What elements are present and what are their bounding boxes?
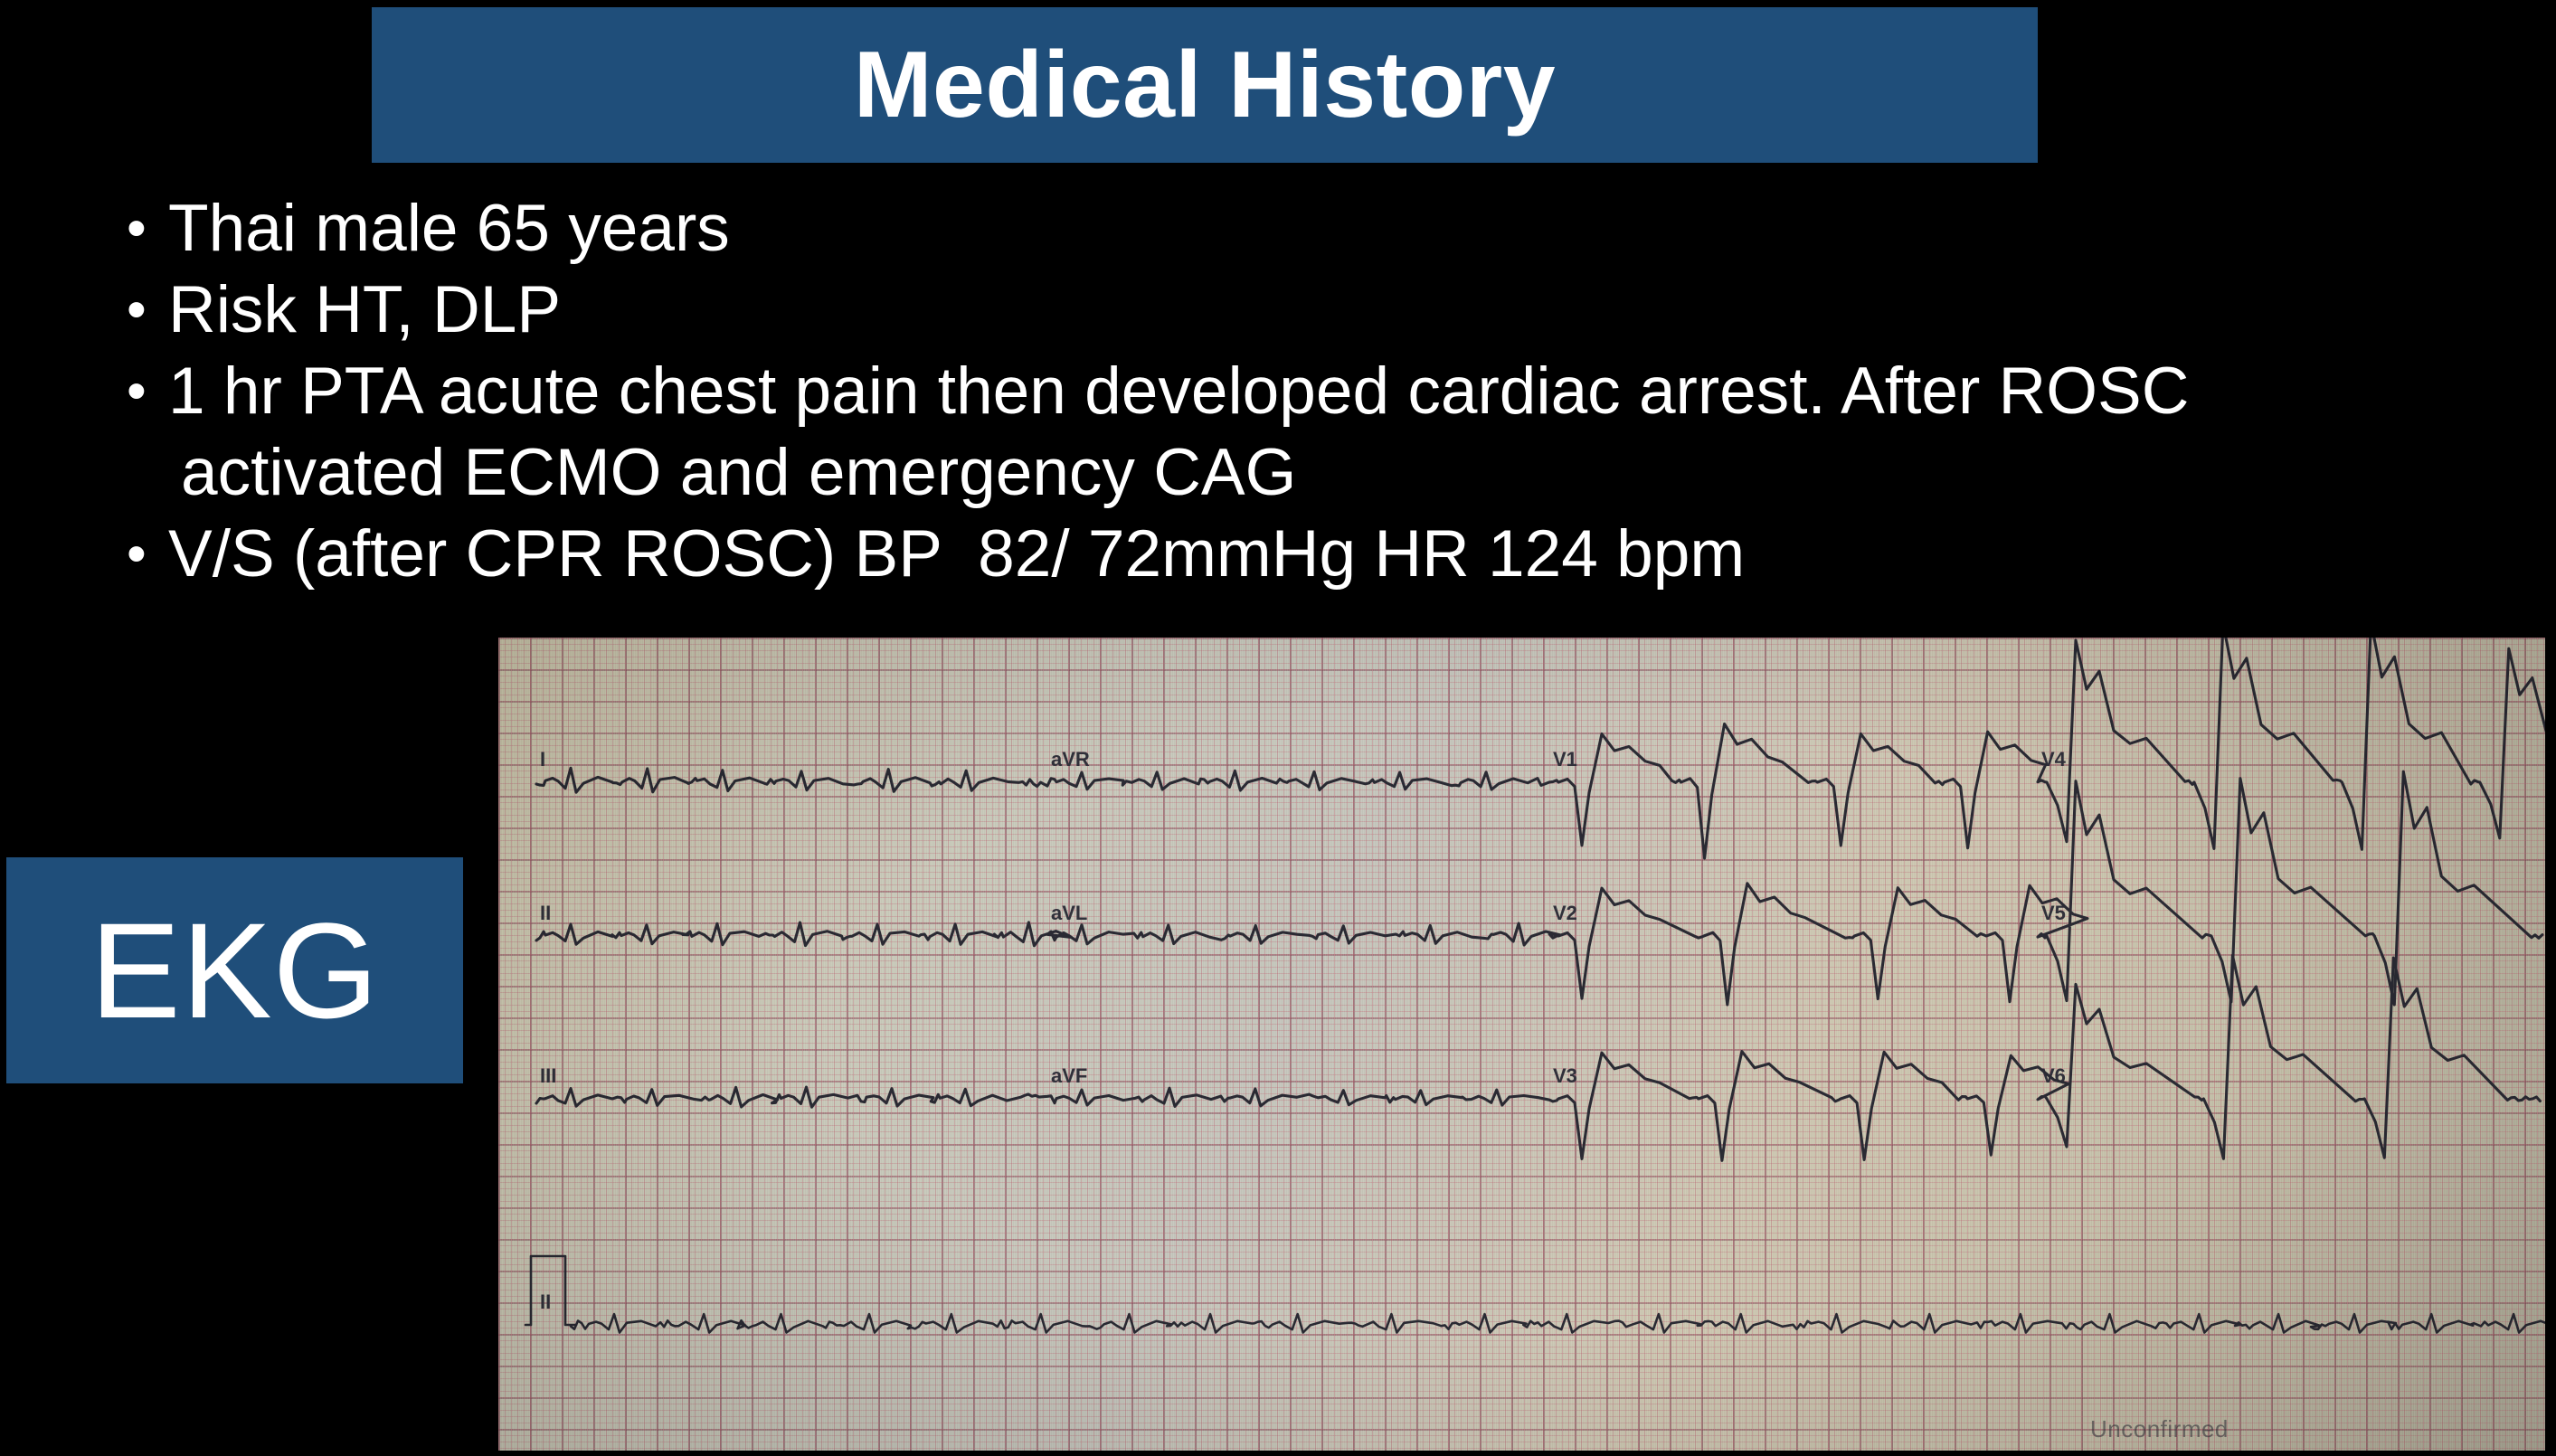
list-item-label: Risk HT, DLP xyxy=(168,269,2532,351)
bullet-marker-icon: • xyxy=(127,514,168,595)
ekg-watermark: Unconfirmed xyxy=(2090,1415,2229,1443)
list-item: • Risk HT, DLP xyxy=(127,269,2532,351)
list-item-label: Thai male 65 years xyxy=(168,188,2532,269)
ekg-photo-vignette xyxy=(498,638,2545,1451)
ekg-label: EKG xyxy=(90,903,380,1038)
ekg-label-box: EKG xyxy=(6,857,463,1083)
bullet-marker-icon: • xyxy=(127,351,168,432)
ekg-strip-image: IaVRV1V4IIaVLV2V5IIIaVFV3V6II Unconfirme… xyxy=(498,638,2545,1451)
list-item-label: activated ECMO and emergency CAG xyxy=(168,432,2532,514)
title-banner: Medical History xyxy=(372,7,2038,163)
bullet-list: • Thai male 65 years • Risk HT, DLP • 1 … xyxy=(127,188,2532,595)
page-title: Medical History xyxy=(854,38,1556,132)
bullet-marker-icon: • xyxy=(127,188,168,269)
bullet-marker-icon: • xyxy=(127,269,168,351)
list-item-label: V/S (after CPR ROSC) BP 82/ 72mmHg HR 12… xyxy=(168,514,2532,595)
list-item: • 1 hr PTA acute chest pain then develop… xyxy=(127,351,2532,432)
list-item: • Thai male 65 years xyxy=(127,188,2532,269)
list-item-continuation: activated ECMO and emergency CAG xyxy=(127,432,2532,514)
list-item: • V/S (after CPR ROSC) BP 82/ 72mmHg HR … xyxy=(127,514,2532,595)
list-item-label: 1 hr PTA acute chest pain then developed… xyxy=(168,351,2532,432)
